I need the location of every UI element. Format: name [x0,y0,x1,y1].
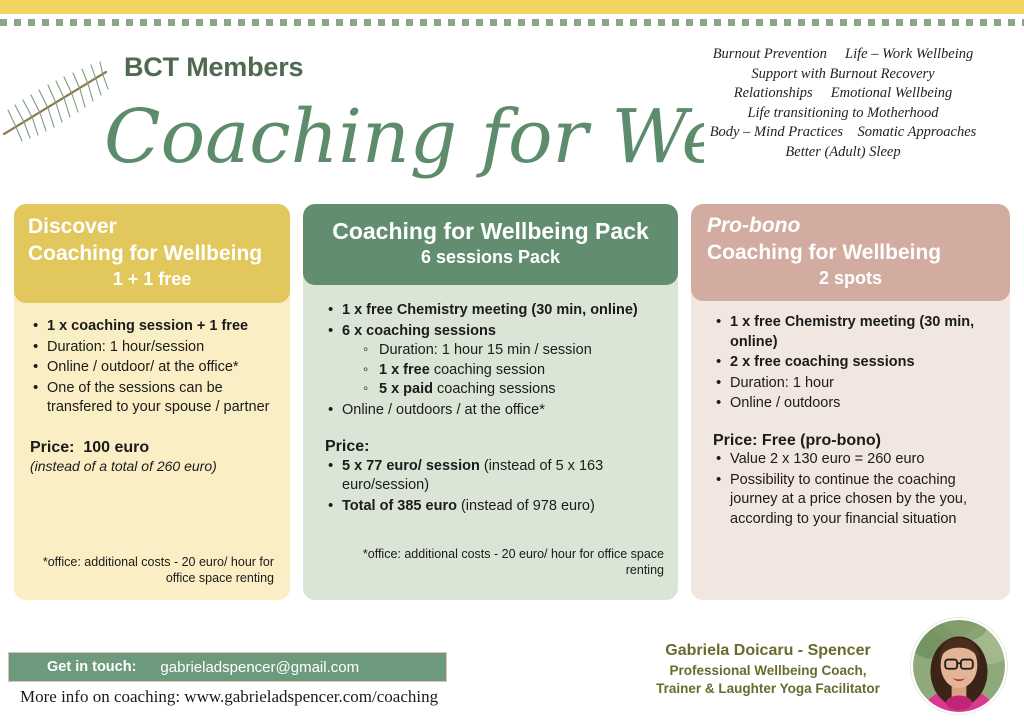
coach-role-line1: Professional Wellbeing Coach, [638,662,898,680]
sub-list-item: Duration: 1 hour 15 min / session [362,341,660,361]
list-item: Value 2 x 130 euro = 260 euro [713,450,992,470]
price-list: Value 2 x 130 euro = 260 euro Possibilit… [713,450,992,529]
sub-item-text: Duration: 1 hour 15 min / session [379,342,592,358]
sub-item-bold: 1 x free [379,362,430,378]
script-title-text: Coaching for Wellbeing [104,94,704,180]
list-item: Possibility to continue the coaching jou… [713,471,992,530]
card-head-line3: 6 sessions Pack [317,245,664,269]
price-block: Price: Free (pro-bono) Value 2 x 130 eur… [713,431,992,530]
list-item-text: Online / outdoor/ at the office* [47,359,239,375]
card-head-line1: Pro-bono [707,213,994,239]
list-item-bold: 1 x coaching session + 1 free [47,318,248,334]
list-item-text: Possibility to continue the coaching jou… [730,472,967,527]
card-head-line2: Coaching for Wellbeing Pack [317,218,664,245]
list-item-bold: 5 x 77 euro/ session [342,458,480,474]
sub-list-item: 5 x paid coaching sessions [362,380,660,400]
sub-feature-list: Duration: 1 hour 15 min / session 1 x fr… [342,341,660,400]
price-list: 5 x 77 euro/ session (instead of 5 x 163… [325,457,660,517]
list-item: Total of 385 euro (instead of 978 euro) [325,497,660,517]
coach-name: Gabriela Doicaru - Spencer [638,640,898,662]
card-head-line3: 1 + 1 free [28,267,276,291]
offer-card-probono[interactable]: Pro-bono Coaching for Wellbeing 2 spots … [691,204,1010,600]
list-item-bold: 6 x coaching sessions [342,323,496,339]
list-item: 1 x free Chemistry meeting (30 min, onli… [713,313,992,352]
list-item-text: Duration: 1 hour [730,375,834,391]
list-item: 1 x coaching session + 1 free [30,317,274,337]
avatar [911,618,1007,714]
price-label: Price: [325,437,660,457]
list-item-text: Value 2 x 130 euro = 260 euro [730,451,924,467]
list-item-text: Online / outdoors / at the office* [342,402,545,418]
keyword-line: Burnout Prevention Life – Work Wellbeing [688,45,998,65]
list-item: Duration: 1 hour [713,374,992,394]
sub-list-item: 1 x free coaching session [362,361,660,381]
card-head-line2: Coaching for Wellbeing [707,239,994,266]
price-block: Price: 100 euro (instead of a total of 2… [30,438,274,477]
price-label: Price: Free (pro-bono) [713,431,992,451]
card-header-discover: Discover Coaching for Wellbeing 1 + 1 fr… [14,204,290,303]
keyword-line: Body – Mind Practices Somatic Approaches [688,123,998,143]
list-item: Duration: 1 hour/session [30,338,274,358]
card-footnote: *office: additional costs - 20 euro/ hou… [26,554,274,586]
price-value: 100 euro [83,439,149,456]
list-item-bold: 1 x free Chemistry meeting (30 min, onli… [730,314,974,350]
list-item-text: Online / outdoors [730,395,840,411]
list-item: Online / outdoors / at the office* [325,401,660,421]
contact-email[interactable]: gabrieladspencer@gmail.com [160,659,359,676]
card-head-line3: 2 spots [707,266,994,290]
price-line: Price: 100 euro [30,438,274,458]
list-item-bold: Total of 385 euro [342,498,457,514]
contact-label: Get in touch: [47,659,136,675]
card-body-probono: 1 x free Chemistry meeting (30 min, onli… [691,301,1010,600]
card-header-pack: Coaching for Wellbeing Pack 6 sessions P… [303,204,678,285]
keyword-line: Life transitioning to Motherhood [688,104,998,124]
dotted-divider [0,19,1024,26]
list-item-text: Duration: 1 hour/session [47,339,204,355]
offer-card-discover[interactable]: Discover Coaching for Wellbeing 1 + 1 fr… [14,204,290,600]
card-header-probono: Pro-bono Coaching for Wellbeing 2 spots [691,204,1010,301]
keyword-line: Better (Adult) Sleep [688,143,998,163]
top-yellow-bar [0,0,1024,14]
offer-card-pack[interactable]: Coaching for Wellbeing Pack 6 sessions P… [303,204,678,600]
card-body-pack: 1 x free Chemistry meeting (30 min, onli… [303,285,678,600]
list-item-text: One of the sessions can be transfered to… [47,380,269,416]
list-item: Online / outdoor/ at the office* [30,358,274,378]
keyword-line: Relationships Emotional Wellbeing [688,84,998,104]
list-item-bold: 1 x free Chemistry meeting (30 min, onli… [342,302,638,318]
list-item: 6 x coaching sessions Duration: 1 hour 1… [325,322,660,400]
page-eyebrow-title: BCT Members [124,52,303,83]
list-item: One of the sessions can be transfered to… [30,379,274,418]
feature-list: 1 x free Chemistry meeting (30 min, onli… [713,313,992,414]
keyword-line: Support with Burnout Recovery [688,65,998,85]
price-label: Price: [30,439,74,456]
list-item-bold: 2 x free coaching sessions [730,354,915,370]
offer-cards: Discover Coaching for Wellbeing 1 + 1 fr… [0,204,1024,604]
sub-item-bold: 5 x paid [379,381,433,397]
more-info-link[interactable]: More info on coaching: www.gabrieladspen… [20,687,438,707]
card-footnote: *office: additional costs - 20 euro/ hou… [327,546,665,578]
list-item: 2 x free coaching sessions [713,353,992,373]
price-note: (instead of a total of 260 euro) [30,457,274,477]
header-keywords: Burnout Prevention Life – Work Wellbeing… [688,45,998,162]
price-block: Price: 5 x 77 euro/ session (instead of … [325,437,660,516]
sub-item-text: coaching session [430,362,545,378]
page-script-title: Coaching for Wellbeing [104,84,704,189]
coach-info: Gabriela Doicaru - Spencer Professional … [638,640,898,698]
list-item: 5 x 77 euro/ session (instead of 5 x 163… [325,457,660,496]
sub-item-text: coaching sessions [433,381,556,397]
card-body-discover: 1 x coaching session + 1 free Duration: … [14,303,290,600]
card-head-line1: Discover [28,214,276,240]
feature-list: 1 x free Chemistry meeting (30 min, onli… [325,301,660,420]
list-item: 1 x free Chemistry meeting (30 min, onli… [325,301,660,321]
list-item: Online / outdoors [713,394,992,414]
list-item-text: (instead of 978 euro) [457,498,595,514]
contact-bar[interactable]: Get in touch: gabrieladspencer@gmail.com [8,652,447,682]
coach-role-line2: Trainer & Laughter Yoga Facilitator [638,680,898,698]
flyer-page: BCT Members Coaching for Wellbeing Burno… [0,0,1024,723]
feature-list: 1 x coaching session + 1 free Duration: … [30,317,274,418]
card-head-line2: Coaching for Wellbeing [28,240,276,267]
